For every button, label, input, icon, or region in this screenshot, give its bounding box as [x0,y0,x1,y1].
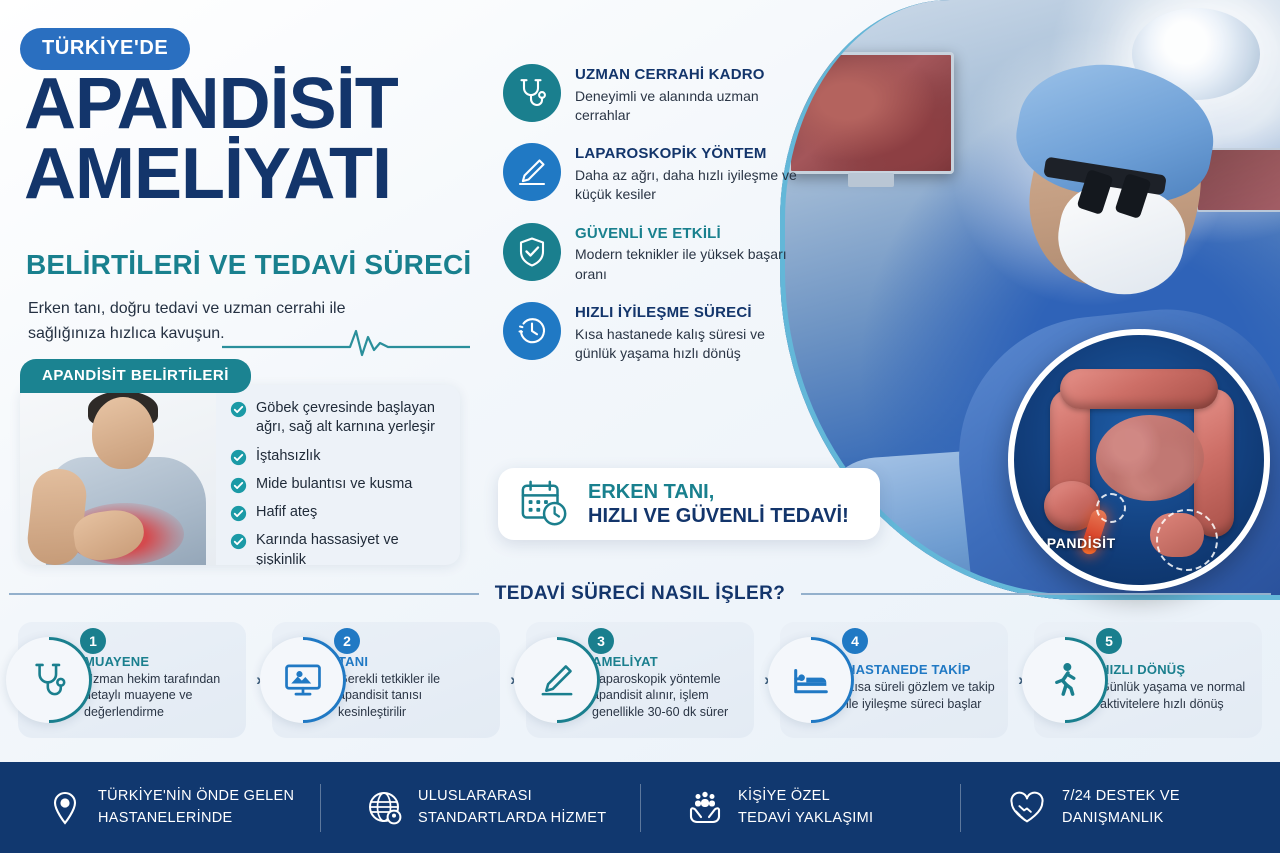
footer-item-kisiye-ozel: KİŞİYE ÖZEL TEDAVİ YAKLAŞIMI [640,780,960,836]
scalpel-pen-icon [503,143,561,201]
process-step-1[interactable]: 1 MUAYENE Uzman hekim tarafından detaylı… [18,622,246,738]
heading-rule-left [9,593,479,595]
features-list: UZMAN CERRAHİ KADRO Deneyimli ve alanınd… [503,64,803,381]
feature-laparoskopik-yontem: LAPAROSKOPİK YÖNTEM Daha az ağrı, daha h… [503,143,803,204]
feature-desc: Modern teknikler ile yüksek başarı oranı [575,245,803,284]
globe-pin-icon [366,789,404,827]
step-icon-ring [1022,637,1108,723]
footer-bar: TÜRKİYE'NİN ÖNDE GELEN HASTANELERİNDE UL… [0,762,1280,853]
stethoscope-icon [503,64,561,122]
check-circle-icon [230,533,247,550]
step-title: MUAYENE [84,654,236,669]
calendar-clock-icon [520,479,570,529]
intro-line-1: Erken tanı, doğru tedavi ve uzman cerrah… [28,297,346,322]
stethoscope-icon [29,660,69,700]
feature-title: GÜVENLİ VE ETKİLİ [575,225,803,243]
footer-line-1: 7/24 DESTEK VE [1062,786,1180,808]
handshake-heart-icon [1006,789,1048,827]
footer-item-label: ULUSLARARASI STANDARTLARDA HİZMET [418,786,606,830]
footer-item-label: 7/24 DESTEK VE DANIŞMANLIK [1062,786,1180,830]
footer-item-label: KİŞİYE ÖZEL TEDAVİ YAKLAŞIMI [738,786,873,830]
process-section-heading: TEDAVİ SÜRECİ NASIL İŞLER? [0,583,1280,605]
footer-line-1: TÜRKİYE'NİN ÖNDE GELEN [98,786,294,808]
cta-line-1: ERKEN TANI, [588,480,849,504]
endoscopy-monitor [788,52,954,174]
footer-item-destek: 7/24 DESTEK VE DANIŞMANLIK [960,780,1280,836]
symptoms-tab-label: APANDİSİT BELİRTİLERİ [20,359,251,393]
step-icon-ring [260,637,346,723]
feature-desc: Daha az ağrı, daha hızlı iyileşme ve küç… [575,166,803,205]
list-item-label: İştahsızlık [256,447,320,466]
shield-check-icon [503,223,561,281]
list-item-label: Karında hassasiyet ve şişkinlik [256,531,446,565]
title-line-2: AMELİYATI [24,140,398,210]
step-desc: Kısa süreli gözlem ve takip ile iyileşme… [846,679,998,712]
feature-uzman-cerrahi-kadro: UZMAN CERRAHİ KADRO Deneyimli ve alanınd… [503,64,803,125]
title-line-1: APANDİSİT [24,64,398,144]
step-number-badge: 5 [1096,628,1122,654]
scalpel-pen-icon [537,660,577,700]
cta-line-2: HIZLI VE GÜVENLİ TEDAVİ! [588,504,849,528]
feature-guvenli-ve-etkili: GÜVENLİ VE ETKİLİ Modern teknikler ile y… [503,223,803,284]
feature-title: LAPAROSKOPİK YÖNTEM [575,145,803,163]
footer-line-1: KİŞİYE ÖZEL [738,786,873,808]
feature-hizli-iyilesme-sureci: HIZLI İYİLEŞME SÜRECİ Kısa hastanede kal… [503,302,803,363]
infographic-root: APANDİSİT TÜRKİYE'DE APANDİSİT AMELİYATI… [0,0,1280,853]
check-circle-icon [230,401,247,418]
footer-item-hastaneler: TÜRKİYE'NİN ÖNDE GELEN HASTANELERİNDE [0,780,320,836]
feature-desc: Kısa hastanede kalış süresi ve günlük ya… [575,325,803,364]
anatomy-label: APANDİSİT [1036,535,1116,551]
walking-person-icon [1045,660,1085,700]
step-icon-ring [514,637,600,723]
feature-title: HIZLI İYİLEŞME SÜRECİ [575,304,803,322]
cta-banner[interactable]: ERKEN TANI, HIZLI VE GÜVENLİ TEDAVİ! [498,468,880,540]
list-item: Hafif ateş [230,503,446,522]
footer-line-1: ULUSLARARASI [418,786,606,808]
appendix-focus-ring [1156,509,1218,571]
process-step-3[interactable]: 3 AMELİYAT Laparoskopik yöntemle apandis… [526,622,754,738]
step-number-badge: 2 [334,628,360,654]
step-icon-ring [6,637,92,723]
list-item-label: Hafif ateş [256,503,317,522]
footer-item-label: TÜRKİYE'NİN ÖNDE GELEN HASTANELERİNDE [98,786,294,830]
step-title: AMELİYAT [592,654,744,669]
footer-line-2: TEDAVİ YAKLAŞIMI [738,808,873,830]
process-step-2[interactable]: 2 TANI Gerekli tetkikler ile apandisit t… [272,622,500,738]
step-desc: Laparoskopik yöntemle apandisit alınır, … [592,671,744,721]
heading-rule-right [801,593,1271,595]
feature-desc: Deneyimli ve alanında uzman cerrahlar [575,87,803,126]
step-title: HIZLI DÖNÜŞ [1100,662,1252,677]
hands-people-icon [686,789,724,827]
list-item: Mide bulantısı ve kusma [230,475,446,494]
feature-title: UZMAN CERRAHİ KADRO [575,66,803,84]
process-step-5[interactable]: 5 HIZLI DÖNÜŞ Günlük yaşama ve normal ak… [1034,622,1262,738]
page-title: APANDİSİT AMELİYATI [24,70,398,210]
ecg-line-icon [222,325,470,359]
step-number-badge: 1 [80,628,106,654]
clock-fast-icon [503,302,561,360]
hospital-bed-icon [791,660,831,700]
step-desc: Günlük yaşama ve normal aktivitelere hız… [1100,679,1252,712]
appendix-focus-ring-small [1096,493,1126,523]
footer-line-2: DANIŞMANLIK [1062,808,1180,830]
monitor-scan-icon [283,660,323,700]
list-item: Göbek çevresinde başlayan ağrı, sağ alt … [230,399,446,438]
list-item: İştahsızlık [230,447,446,466]
list-item-label: Mide bulantısı ve kusma [256,475,412,494]
process-heading-label: TEDAVİ SÜRECİ NASIL İŞLER? [495,583,786,605]
process-step-4[interactable]: 4 HASTANEDE TAKİP Kısa süreli gözlem ve … [780,622,1008,738]
step-desc: Uzman hekim tarafından detaylı muayene v… [84,671,236,721]
symptoms-list: Göbek çevresinde başlayan ağrı, sağ alt … [216,385,460,565]
step-number-badge: 3 [588,628,614,654]
page-subtitle: BELİRTİLERİ VE TEDAVİ SÜRECİ [26,249,471,281]
step-title: TANI [338,654,490,669]
step-number-badge: 4 [842,628,868,654]
symptoms-card: Göbek çevresinde başlayan ağrı, sağ alt … [20,385,460,565]
colon-anatomy-illustration: APANDİSİT [1008,329,1270,591]
list-item: Karında hassasiyet ve şişkinlik [230,531,446,565]
process-steps: 1 MUAYENE Uzman hekim tarafından detaylı… [18,622,1262,738]
location-pin-icon [46,789,84,827]
footer-line-2: STANDARTLARDA HİZMET [418,808,606,830]
step-title: HASTANEDE TAKİP [846,662,998,677]
check-circle-icon [230,477,247,494]
step-desc: Gerekli tetkikler ile apandisit tanısı k… [338,671,490,721]
footer-item-uluslararasi: ULUSLARARASI STANDARTLARDA HİZMET [320,780,640,836]
check-circle-icon [230,449,247,466]
check-circle-icon [230,505,247,522]
list-item-label: Göbek çevresinde başlayan ağrı, sağ alt … [256,399,446,438]
step-icon-ring [768,637,854,723]
footer-line-2: HASTANELERİNDE [98,808,294,830]
patient-photo [20,385,216,565]
